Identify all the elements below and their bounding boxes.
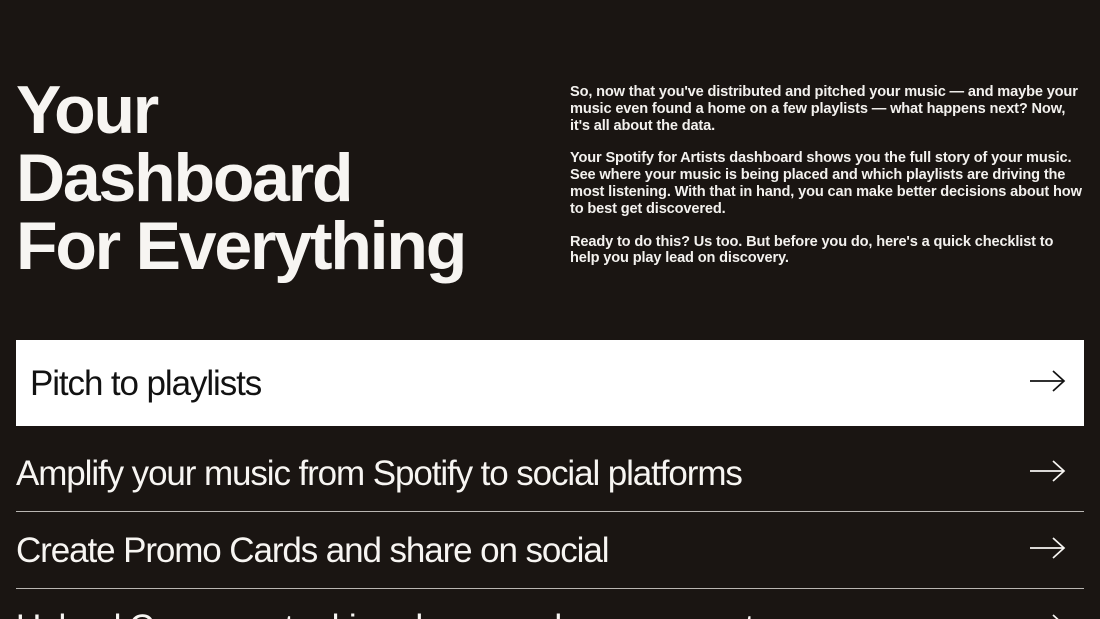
checklist-item-label: Create Promo Cards and share on social	[16, 533, 608, 568]
arrow-right-icon	[1028, 612, 1068, 619]
checklist-item-upload-canvases[interactable]: Upload Canvases to drive shares and enga…	[16, 589, 1084, 619]
arrow-right-icon	[1028, 458, 1068, 489]
hero-section: Your Dashboard For Everything So, now th…	[0, 0, 1100, 320]
page-root: Your Dashboard For Everything So, now th…	[0, 0, 1100, 619]
arrow-right-icon	[1028, 368, 1068, 399]
checklist-item-pitch-to-playlists[interactable]: Pitch to playlists	[16, 340, 1084, 426]
checklist-item-amplify-your-music[interactable]: Amplify your music from Spotify to socia…	[16, 435, 1084, 511]
checklist-item-label: Pitch to playlists	[30, 366, 261, 401]
checklist-item-label: Upload Canvases to drive shares and enga…	[16, 610, 753, 619]
intro-paragraph-3: Ready to do this? Us too. But before you…	[570, 234, 1082, 268]
intro-copy: So, now that you've distributed and pitc…	[570, 84, 1082, 267]
intro-paragraph-2: Your Spotify for Artists dashboard shows…	[570, 150, 1082, 217]
checklist-section: Pitch to playlists Amplify your music fr…	[0, 340, 1100, 619]
arrow-right-icon	[1028, 535, 1068, 566]
page-title: Your Dashboard For Everything	[16, 76, 556, 280]
checklist-item-label: Amplify your music from Spotify to socia…	[16, 456, 742, 491]
intro-paragraph-1: So, now that you've distributed and pitc…	[570, 84, 1082, 134]
row-gap	[0, 426, 1100, 435]
checklist-item-create-promo-cards[interactable]: Create Promo Cards and share on social	[16, 512, 1084, 588]
